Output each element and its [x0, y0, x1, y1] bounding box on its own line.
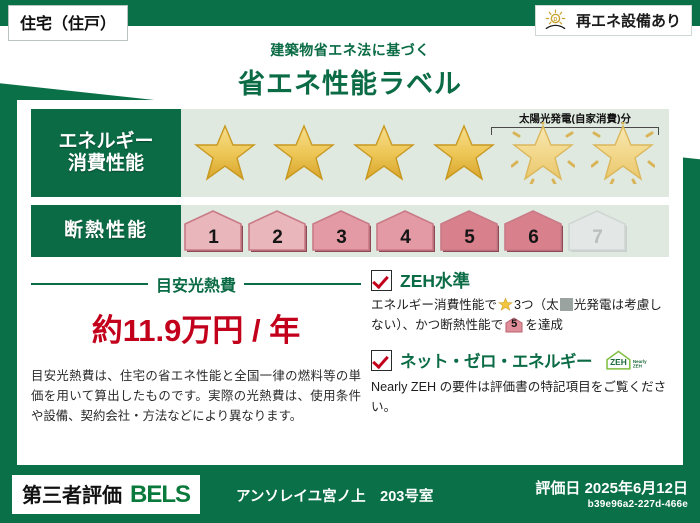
- cost-heading-label: 目安光熱費: [156, 272, 236, 296]
- star-filled: [432, 122, 496, 184]
- insulation-grade-achieved: 3: [311, 209, 372, 253]
- star-filled: [352, 122, 416, 184]
- zeh-column: ZEH水準 エネルギー消費性能で3つ（太光発電は考慮しない）、かつ断熱性能で5を…: [361, 268, 669, 459]
- house-type-chip: 住宅（住戸）: [8, 5, 128, 41]
- net-zero-title: ネット・ゼロ・エネルギー: [400, 348, 592, 372]
- net-zero-description: Nearly ZEH の要件は評価書の特記項目をご覧ください。: [371, 378, 669, 418]
- third-party-chip: 第三者評価 BELS: [12, 475, 200, 514]
- zeh-text-c: 光発電: [574, 298, 612, 312]
- zeh-text-a: エネルギー消費性能で: [371, 298, 497, 312]
- energy-star-rating: [181, 109, 669, 197]
- zeh-logo-icon: ZEH Nearly ZEH: [604, 347, 648, 374]
- net-zero-checkbox[interactable]: [371, 350, 392, 371]
- star-inline-icon: [498, 297, 513, 312]
- star-solar: [591, 122, 655, 184]
- insulation-grade-number: 7: [567, 227, 628, 249]
- performance-section: エネルギー 消費性能 太陽光発電(自家消費)分 断熱性能 1234567: [31, 109, 669, 265]
- energy-label-line2: 消費性能: [68, 153, 144, 175]
- insulation-grade-list: 1234567: [181, 205, 669, 257]
- bels-energy-label: 住宅（住戸） D 再エネ設備あり 建築物省エネ法に基づく 省エネ性能ラベル: [0, 0, 700, 523]
- star-filled: [193, 122, 257, 184]
- energy-stars-area: 太陽光発電(自家消費)分: [181, 109, 669, 197]
- insulation-grade-number: 2: [247, 227, 308, 249]
- insulation-performance-row: 断熱性能 1234567: [31, 205, 669, 257]
- sun-solar-icon: D: [544, 9, 570, 31]
- utility-cost-column: 目安光熱費 約11.9万円 / 年 目安光熱費は、住宅の省エネ性能と全国一律の燃…: [31, 268, 361, 459]
- utility-cost-value: 約11.9万円 / 年: [31, 305, 361, 350]
- evaluation-info: 評価日 2025年6月12日 b39e96a2-227d-466e: [535, 477, 688, 510]
- bels-logo-text: BELS: [130, 481, 190, 509]
- utility-cost-heading: 目安光熱費: [31, 272, 361, 296]
- label-card: エネルギー 消費性能 太陽光発電(自家消費)分 断熱性能 1234567: [17, 100, 683, 465]
- insulation-label-text: 断熱性能: [64, 220, 148, 242]
- insulation-grade-number: 5: [439, 227, 500, 249]
- title-main: 省エネ性能ラベル: [0, 62, 700, 101]
- energy-label-line1: エネルギー: [58, 131, 153, 153]
- label-footer: 第三者評価 BELS アンソレイユ宮ノ上 203号室 評価日 2025年6月12…: [0, 465, 700, 523]
- document-id: b39e96a2-227d-466e: [535, 499, 688, 510]
- zeh-grade-value: 5: [505, 316, 523, 333]
- insulation-grade-inactive: 7: [567, 209, 628, 253]
- zeh-standard-description: エネルギー消費性能で3つ（太光発電は考慮しない）、かつ断熱性能で5を達成: [371, 296, 669, 336]
- energy-performance-label: エネルギー 消費性能: [31, 109, 181, 197]
- property-name: アンソレイユ宮ノ上 203号室: [236, 485, 433, 506]
- star-solar: [511, 122, 575, 184]
- label-lower-section: 目安光熱費 約11.9万円 / 年 目安光熱費は、住宅の省エネ性能と全国一律の燃…: [31, 268, 669, 459]
- insulation-grade-inline-icon: 5: [505, 317, 523, 333]
- zeh-standard-checkbox[interactable]: [371, 270, 392, 291]
- insulation-grade-number: 4: [375, 227, 436, 249]
- evaluation-date: 評価日 2025年6月12日: [535, 477, 688, 498]
- insulation-grade-number: 1: [183, 227, 244, 249]
- renewable-energy-chip: D 再エネ設備あり: [535, 5, 692, 36]
- renewable-chip-label: 再エネ設備あり: [576, 10, 681, 31]
- insulation-grade-achieved: 4: [375, 209, 436, 253]
- cost-rule-right: [244, 283, 361, 285]
- cost-rule-left: [31, 283, 148, 285]
- svg-text:ZEH: ZEH: [610, 357, 627, 367]
- insulation-grade-achieved: 5: [439, 209, 500, 253]
- zeh-standard-row: ZEH水準: [371, 268, 669, 293]
- star-filled: [272, 122, 336, 184]
- svg-text:D: D: [554, 17, 558, 23]
- energy-performance-row: エネルギー 消費性能 太陽光発電(自家消費)分: [31, 109, 669, 197]
- svg-text:ZEH: ZEH: [633, 363, 642, 368]
- insulation-grade-achieved: 6: [503, 209, 564, 253]
- title-subtitle: 建築物省エネ法に基づく: [0, 40, 700, 60]
- insulation-grade-number: 6: [503, 227, 564, 249]
- utility-cost-description: 目安光熱費は、住宅の省エネ性能と全国一律の燃料等の単価を用いて算出したものです。…: [31, 366, 361, 426]
- insulation-performance-label: 断熱性能: [31, 205, 181, 257]
- net-zero-row: ネット・ゼロ・エネルギー ZEH Nearly ZEH: [371, 347, 669, 374]
- solar-redacted-block-icon: [560, 298, 573, 311]
- zeh-text-e: を達成: [525, 318, 563, 332]
- insulation-grades-area: 1234567: [181, 205, 669, 257]
- insulation-grade-number: 3: [311, 227, 372, 249]
- zeh-standard-title: ZEH水準: [400, 268, 470, 293]
- third-party-label: 第三者評価: [22, 479, 122, 508]
- insulation-grade-achieved: 2: [247, 209, 308, 253]
- zeh-text-b: 3つ（太: [514, 298, 559, 312]
- insulation-grade-achieved: 1: [183, 209, 244, 253]
- label-title-block: 建築物省エネ法に基づく 省エネ性能ラベル: [0, 40, 700, 101]
